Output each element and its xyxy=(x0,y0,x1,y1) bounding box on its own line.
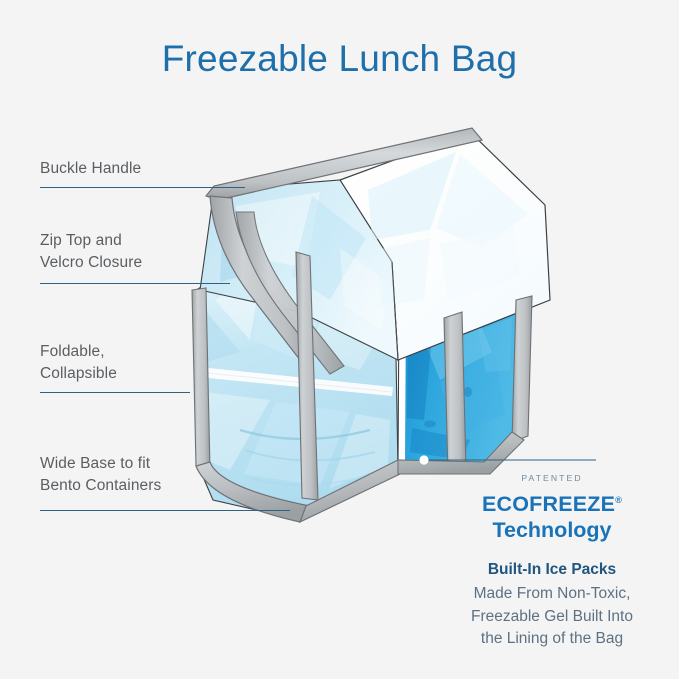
brand-technology-label: Technology xyxy=(432,517,672,543)
callout-rule-wide-base xyxy=(40,510,290,511)
brand-headline: Built-In Ice Packs xyxy=(432,559,672,581)
callout-label-foldable: Foldable, Collapsible xyxy=(40,341,117,385)
infographic-root: Freezable Lunch Bag xyxy=(0,0,679,679)
brand-description: Made From Non-Toxic, Freezable Gel Built… xyxy=(432,583,672,651)
callout-label-wide-base: Wide Base to fit Bento Containers xyxy=(40,453,161,497)
ecofreeze-brand-block: PATENTED ECOFREEZE® Technology Built-In … xyxy=(432,473,672,651)
registered-mark-icon: ® xyxy=(615,495,622,505)
callout-rule-buckle-handle xyxy=(40,187,245,188)
callout-rule-foldable xyxy=(40,392,190,393)
brand-name-text: ECOFREEZE xyxy=(482,492,615,516)
callout-label-zip-top: Zip Top and Velcro Closure xyxy=(40,230,142,274)
patented-label: PATENTED xyxy=(432,473,672,483)
callout-rule-zip-top xyxy=(40,283,230,284)
ice-pack-callout-dot xyxy=(419,455,428,464)
brand-name: ECOFREEZE® xyxy=(432,488,672,517)
callout-buckle-handle: Buckle Handle xyxy=(40,158,141,180)
callout-foldable: Foldable, Collapsible xyxy=(40,341,117,385)
callout-zip-top: Zip Top and Velcro Closure xyxy=(40,230,142,274)
callout-label-buckle-handle: Buckle Handle xyxy=(40,158,141,180)
callout-wide-base: Wide Base to fit Bento Containers xyxy=(40,453,161,497)
